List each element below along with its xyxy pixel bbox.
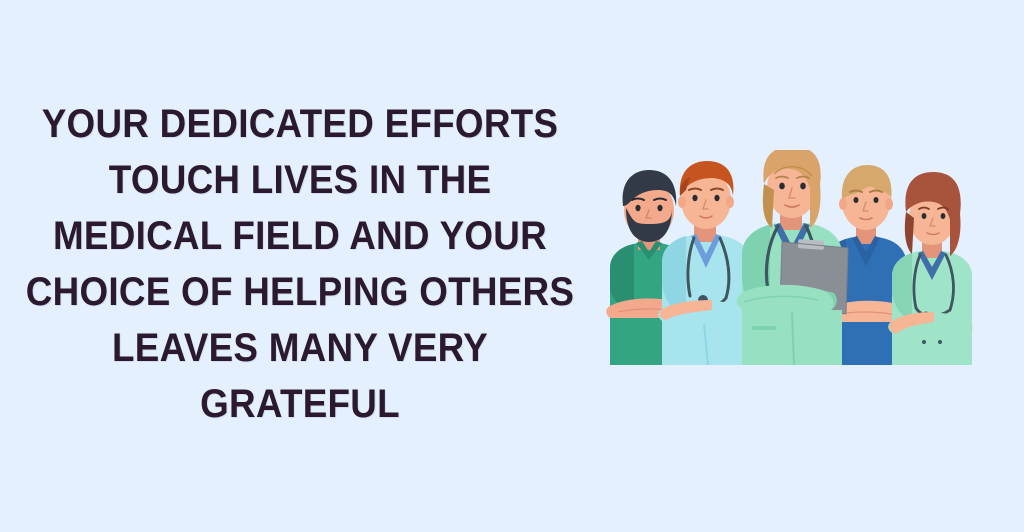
person-1-eye-left bbox=[635, 205, 640, 211]
quote-line-2: TOUCH LIVES IN THE bbox=[24, 152, 576, 208]
person-5-brownhair-doctor bbox=[888, 172, 972, 365]
person-4-eye-left bbox=[854, 197, 859, 203]
person-2-eye-right bbox=[714, 195, 719, 201]
person-3-pocket bbox=[752, 326, 776, 330]
person-5-button-2 bbox=[938, 340, 942, 344]
person-4-eye-right bbox=[874, 197, 879, 203]
person-3-eye-right bbox=[800, 183, 806, 190]
quote-line-4: CHOICE OF HELPING OTHERS bbox=[24, 264, 576, 320]
person-5-lower-coat bbox=[892, 334, 972, 365]
person-4-ear-right bbox=[885, 198, 893, 210]
quote-line-1: YOUR DEDICATED EFFORTS bbox=[24, 96, 576, 152]
quote-banner: YOUR DEDICATED EFFORTS TOUCH LIVES IN TH… bbox=[0, 0, 1024, 532]
person-5-eye-left bbox=[922, 213, 927, 219]
quote-line-5: LEAVES MANY VERY bbox=[24, 320, 576, 376]
person-2-ear-left bbox=[678, 196, 686, 208]
medical-team-svg bbox=[596, 150, 996, 375]
person-2-ear-right bbox=[726, 196, 734, 208]
person-4-ear-left bbox=[839, 198, 847, 210]
person-5-eye-right bbox=[941, 213, 946, 219]
person-1-eye-right bbox=[657, 205, 662, 211]
quote-line-6: GRATEFUL bbox=[24, 376, 576, 432]
person-3-hair-shade bbox=[763, 184, 774, 228]
person-2-eye-left bbox=[692, 195, 697, 201]
quote-line-3: MEDICAL FIELD AND YOUR bbox=[24, 208, 576, 264]
person-3-center-doctor bbox=[737, 150, 848, 365]
person-3-eye-left bbox=[779, 183, 785, 190]
person-5-button-1 bbox=[922, 340, 926, 344]
medical-team-illustration bbox=[596, 150, 996, 375]
person-5-hair-shade bbox=[905, 212, 914, 254]
quote-text-block: YOUR DEDICATED EFFORTS TOUCH LIVES IN TH… bbox=[0, 96, 600, 432]
